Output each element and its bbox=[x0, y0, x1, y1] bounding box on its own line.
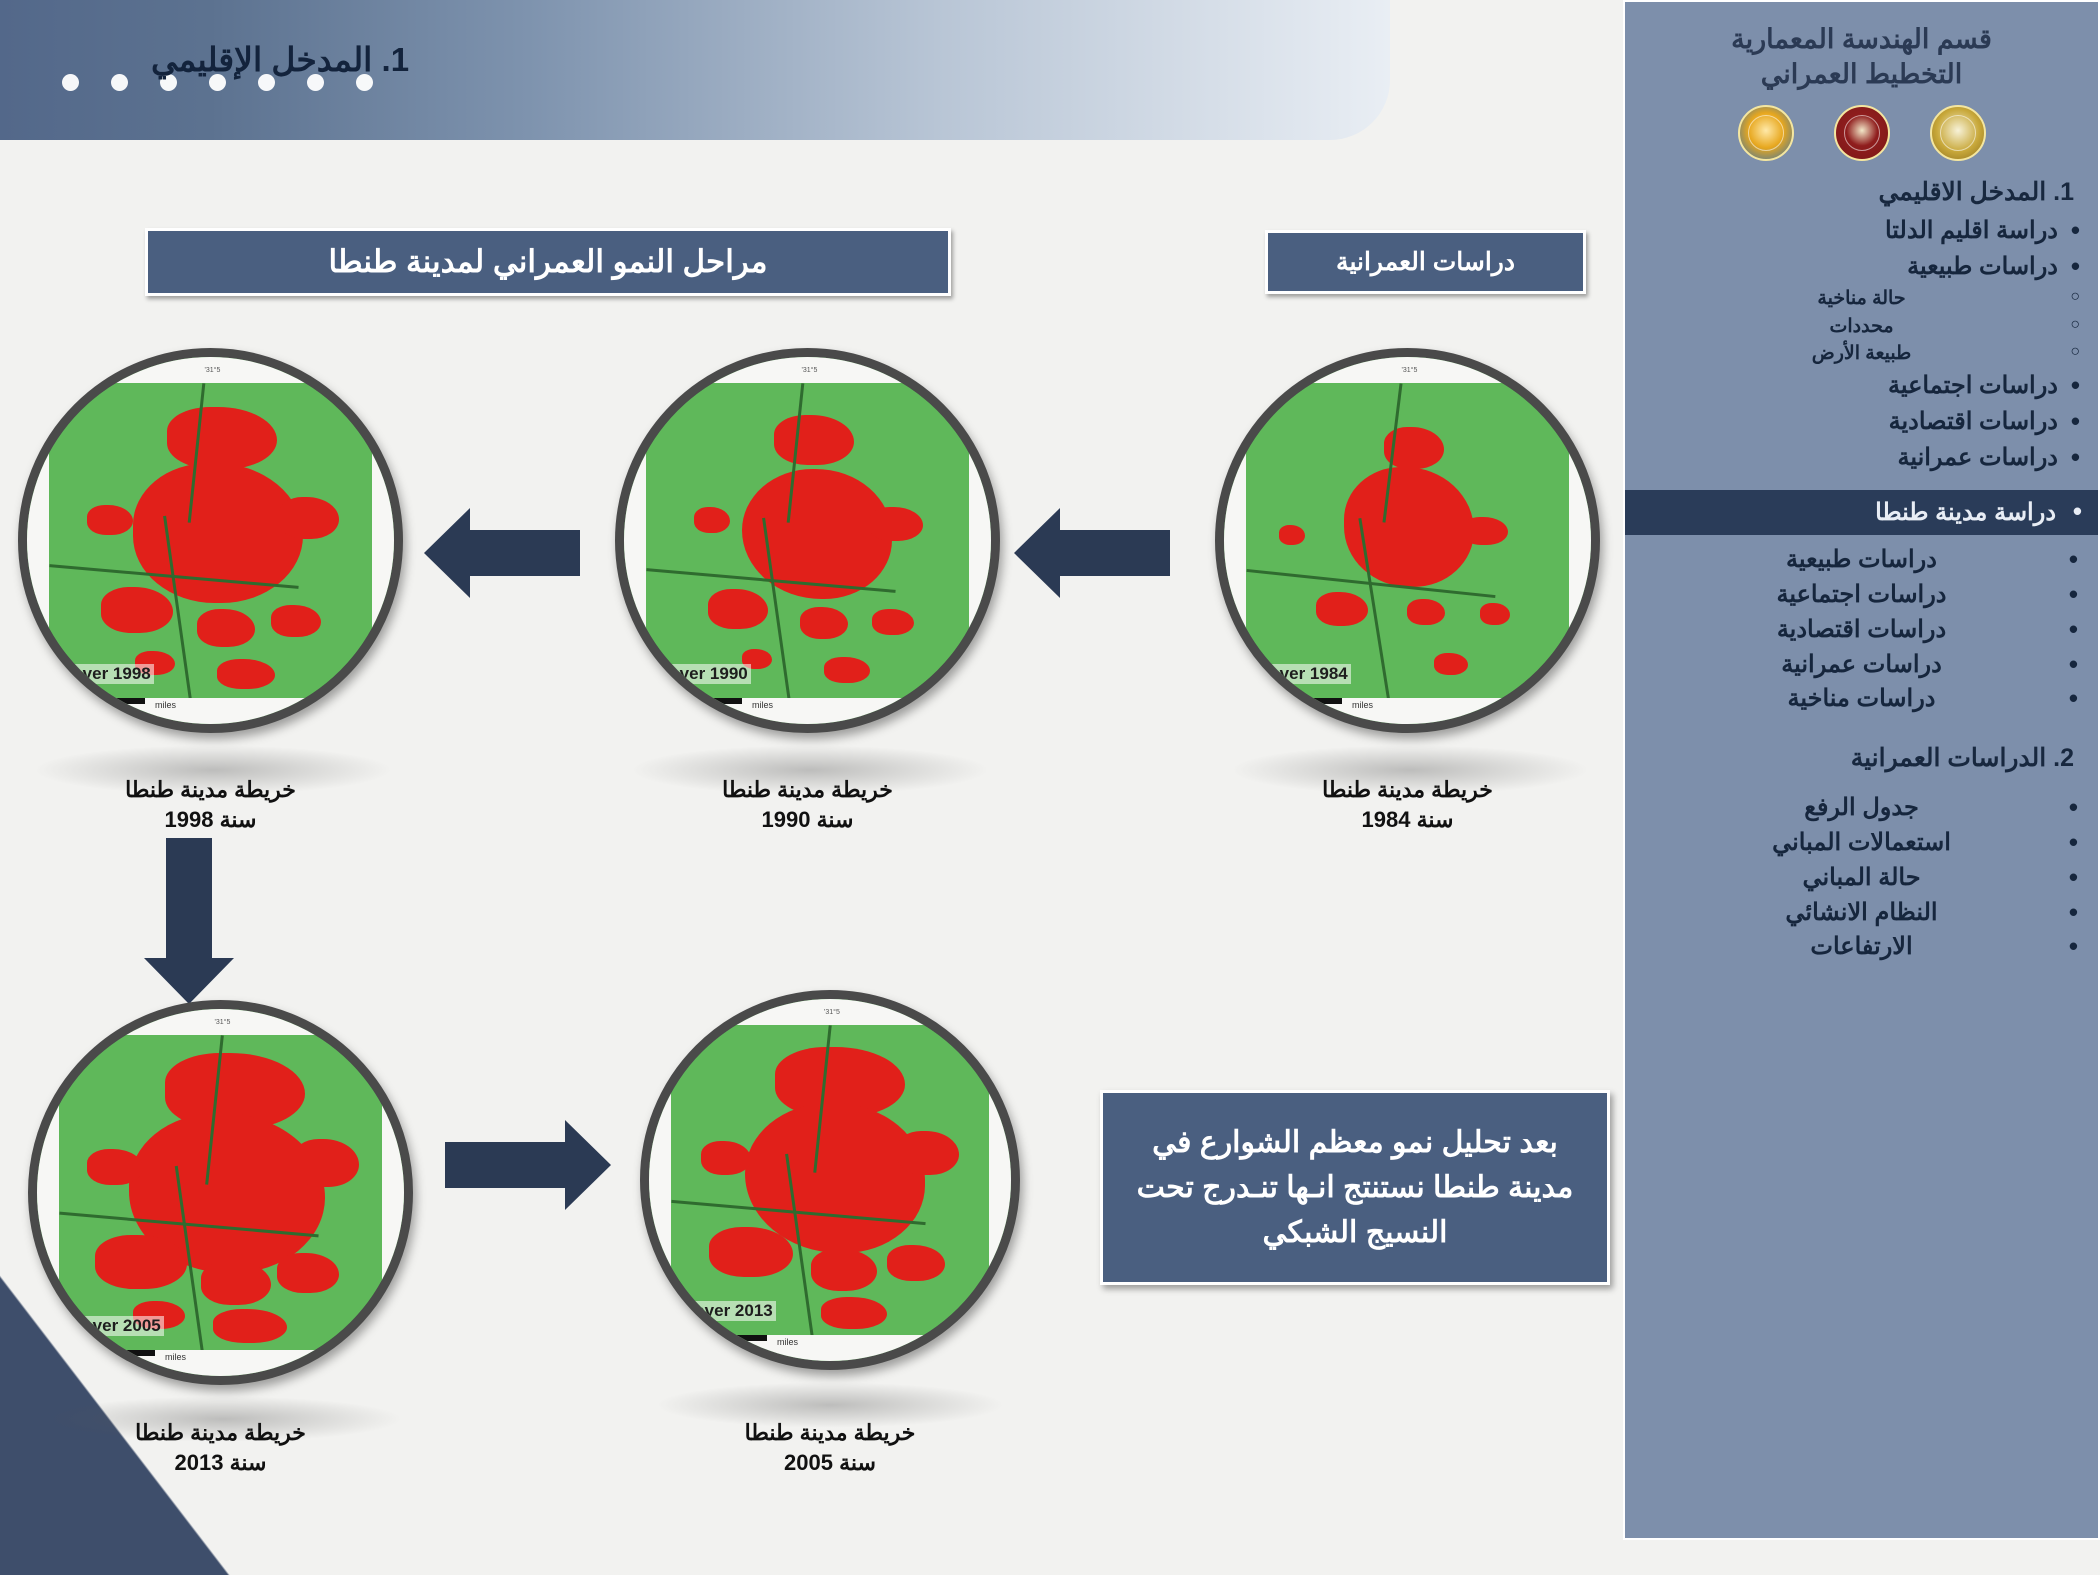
map-2005[interactable]: 31°0'31°5'31°10' Cover 2013 miles bbox=[640, 990, 1020, 1370]
sidebar-item-urban-studies[interactable]: دراسات عمرانية bbox=[1635, 440, 2088, 476]
urban-patch bbox=[887, 1245, 945, 1281]
sidebar-item-building-uses[interactable]: استعمالات المباني bbox=[1635, 826, 2088, 861]
map-scale-bar bbox=[658, 698, 742, 704]
sidebar: قسم الهندسة المعمارية التخطيط العمراني 1… bbox=[1623, 0, 2100, 1540]
caption-line1: خريطة مدينة طنطا bbox=[1215, 775, 1600, 805]
map-scale-bar bbox=[1258, 698, 1342, 704]
caption-line2: سنة 1990 bbox=[615, 805, 1000, 835]
sidebar-item-structural-system[interactable]: النظام الانشائي bbox=[1635, 896, 2088, 931]
map-margin-right bbox=[382, 1009, 404, 1376]
map-tick-row: 31°0'31°5'31°10' bbox=[1224, 357, 1591, 383]
urban-patch bbox=[279, 497, 339, 539]
caption-line1: خريطة مدينة طنطا bbox=[18, 775, 403, 805]
arrow-2013-to-2005 bbox=[445, 1142, 565, 1188]
sidebar-list-urban: جدول الرفع استعمالات المباني حالة المبان… bbox=[1635, 791, 2088, 965]
map-scale-text: miles bbox=[777, 1337, 798, 1347]
sidebar-header-line1: قسم الهندسة المعمارية bbox=[1635, 22, 2088, 57]
map-scale-text: miles bbox=[165, 1352, 186, 1362]
map-caption-2013: خريطة مدينة طنطا سنة 2013 bbox=[28, 1418, 413, 1477]
caption-line1: خريطة مدينة طنطا bbox=[615, 775, 1000, 805]
map-margin-left bbox=[649, 999, 671, 1361]
sidebar-subitem-tanta-natural[interactable]: دراسات طبيعية bbox=[1635, 543, 2088, 578]
urban-patch bbox=[95, 1235, 187, 1289]
map-scale-text: miles bbox=[752, 700, 773, 710]
urban-patch bbox=[201, 1261, 271, 1305]
sidebar-header-line2: التخطيط العمراني bbox=[1635, 57, 2088, 92]
map-margin-right bbox=[989, 999, 1011, 1361]
sidebar-sublist-tanta: دراسات طبيعية دراسات اجتماعية دراسات اقت… bbox=[1635, 543, 2088, 717]
map-margin-top: 31°0'31°5'31°10' bbox=[1224, 357, 1591, 383]
sidebar-list-regional-rest: دراسات اجتماعية دراسات اقتصادية دراسات ع… bbox=[1635, 368, 2088, 476]
map-scale-text: miles bbox=[1352, 700, 1373, 710]
arrow-1990-to-1998 bbox=[470, 530, 580, 576]
urban-patch bbox=[1434, 653, 1468, 675]
urban-patch bbox=[87, 505, 133, 535]
urban-patch bbox=[824, 657, 870, 683]
map-margin-top: 31°0'31°5'31°10' bbox=[27, 357, 394, 383]
caption-line2: سنة 2005 bbox=[640, 1448, 1020, 1478]
sidebar-list-regional: دراسة اقليم الدلتا دراسات طبيعية bbox=[1635, 213, 2088, 285]
map-margin-left bbox=[37, 1009, 59, 1376]
map-tick-row: 31°0'31°5'31°10' bbox=[624, 357, 991, 383]
urban-patch bbox=[774, 415, 854, 465]
map-1998[interactable]: 31°0'31°5'31°10' Cover 1998 miles bbox=[18, 348, 403, 733]
map-margin-left bbox=[27, 357, 49, 724]
sidebar-subitem-tanta-social[interactable]: دراسات اجتماعية bbox=[1635, 578, 2088, 613]
urban-patch bbox=[897, 1131, 959, 1175]
urban-patch bbox=[1462, 517, 1508, 545]
sidebar-subitem-land-nature[interactable]: طبيعة الأرض bbox=[1635, 340, 2088, 368]
sidebar-subitem-tanta-climate[interactable]: دراسات مناخية bbox=[1635, 682, 2088, 717]
urban-patch bbox=[1407, 599, 1445, 625]
sidebar-item-survey-table[interactable]: جدول الرفع bbox=[1635, 791, 2088, 826]
sidebar-subitem-tanta-urban[interactable]: دراسات عمرانية bbox=[1635, 648, 2088, 683]
urban-patch bbox=[87, 1149, 143, 1185]
sidebar-item-delta-study[interactable]: دراسة اقليم الدلتا bbox=[1635, 213, 2088, 249]
sidebar-item-tanta-city-study[interactable]: دراسة مدينة طنطا bbox=[1625, 490, 2098, 535]
map-scale-bar bbox=[683, 1335, 767, 1341]
map-circle-1998: 31°0'31°5'31°10' Cover 1998 miles bbox=[18, 348, 403, 733]
map-inset-label: Cover 2013 bbox=[679, 1301, 776, 1321]
caption-line2: سنة 2013 bbox=[28, 1448, 413, 1478]
urban-patch bbox=[811, 1249, 877, 1291]
map-scale-bar bbox=[61, 698, 145, 704]
urban-patch bbox=[1480, 603, 1510, 625]
map-circle-1984: 31°0'31°5'31°10' Cover 1984 miles bbox=[1215, 348, 1600, 733]
conclusion-box: بعد تحليل نمو معظم الشوارع في مدينة طنطا… bbox=[1100, 1090, 1610, 1285]
map-margin-top: 31°0'31°5'31°10' bbox=[649, 999, 1011, 1025]
map-scale-text: miles bbox=[155, 700, 176, 710]
urban-patch bbox=[701, 1141, 751, 1175]
urban-patch bbox=[694, 507, 730, 533]
university-seal-icon bbox=[1930, 105, 1986, 161]
heading-growth-stages: مراحل النمو العمراني لمدينة طنطا bbox=[145, 228, 951, 296]
urban-patch bbox=[869, 507, 923, 541]
map-1990[interactable]: 31°0'31°5'31°10' Cover 1990 miles bbox=[615, 348, 1000, 733]
urban-patch bbox=[167, 407, 277, 469]
urban-patch bbox=[293, 1139, 359, 1187]
sidebar-subitem-constraints[interactable]: محددات bbox=[1635, 313, 2088, 341]
map-margin-left bbox=[1224, 357, 1246, 724]
map-margin-top: 31°0'31°5'31°10' bbox=[37, 1009, 404, 1035]
sidebar-item-economic-studies[interactable]: دراسات اقتصادية bbox=[1635, 404, 2088, 440]
map-caption-1998: خريطة مدينة طنطا سنة 1998 bbox=[18, 775, 403, 834]
sidebar-item-social-studies[interactable]: دراسات اجتماعية bbox=[1635, 368, 2088, 404]
map-margin-top: 31°0'31°5'31°10' bbox=[624, 357, 991, 383]
heading-urban-studies: دراسات العمرانية bbox=[1265, 230, 1586, 294]
map-circle-2005: 31°0'31°5'31°10' Cover 2013 miles bbox=[640, 990, 1020, 1370]
map-margin-right bbox=[372, 357, 394, 724]
sidebar-sublist-natural: حالة مناخية محددات طبيعة الأرض bbox=[1635, 285, 2088, 368]
caption-line1: خريطة مدينة طنطا bbox=[28, 1418, 413, 1448]
sidebar-section-title-urban: 2. الدراسات العمرانية bbox=[1641, 743, 2074, 773]
caption-line2: سنة 1998 bbox=[18, 805, 403, 835]
slide-title-bar: 1. المدخل الإقليمي bbox=[0, 0, 1390, 140]
caption-line2: سنة 1984 bbox=[1215, 805, 1600, 835]
urban-patch bbox=[872, 609, 914, 635]
page-title: 1. المدخل الإقليمي bbox=[50, 40, 510, 79]
map-caption-1984: خريطة مدينة طنطا سنة 1984 bbox=[1215, 775, 1600, 834]
urban-patch bbox=[708, 589, 768, 629]
map-margin-right bbox=[1569, 357, 1591, 724]
logo-row bbox=[1635, 105, 2088, 161]
caption-line1: خريطة مدينة طنطا bbox=[640, 1418, 1020, 1448]
urban-patch bbox=[800, 607, 848, 639]
map-circle-2013: 31°0'31°5'31°10' Cover 2005 miles bbox=[28, 1000, 413, 1385]
map-margin-left bbox=[624, 357, 646, 724]
sidebar-section-title-regional: 1. المدخل الاقليمي bbox=[1641, 177, 2074, 207]
map-inset-label: Cover 2005 bbox=[67, 1316, 164, 1336]
map-caption-2005: خريطة مدينة طنطا سنة 2005 bbox=[640, 1418, 1020, 1477]
sidebar-item-heights[interactable]: الارتفاعات bbox=[1635, 930, 2088, 965]
map-inset-label: Cover 1998 bbox=[57, 664, 154, 684]
department-seal-icon bbox=[1738, 105, 1794, 161]
arrow-1998-to-2013 bbox=[166, 838, 212, 958]
map-margin-right bbox=[969, 357, 991, 724]
map-1984[interactable]: 31°0'31°5'31°10' Cover 1984 miles bbox=[1215, 348, 1600, 733]
arrow-1984-to-1990 bbox=[1060, 530, 1170, 576]
urban-patch bbox=[271, 605, 321, 637]
urban-patch bbox=[213, 1309, 287, 1343]
arrow-head-right bbox=[565, 1120, 611, 1210]
map-inset-label: Cover 1984 bbox=[1254, 664, 1351, 684]
map-inset-label: Cover 1990 bbox=[654, 664, 751, 684]
urban-patch bbox=[277, 1253, 339, 1293]
urban-patch bbox=[197, 609, 255, 647]
urban-patch bbox=[101, 587, 173, 633]
urban-patch bbox=[821, 1297, 887, 1329]
urban-patch bbox=[1279, 525, 1305, 545]
sidebar-header: قسم الهندسة المعمارية التخطيط العمراني bbox=[1635, 22, 2088, 91]
urban-patch bbox=[1316, 592, 1368, 626]
map-circle-1990: 31°0'31°5'31°10' Cover 1990 miles bbox=[615, 348, 1000, 733]
map-tick-row: 31°0'31°5'31°10' bbox=[649, 999, 1011, 1025]
urban-patch bbox=[709, 1227, 793, 1277]
map-2013[interactable]: 31°0'31°5'31°10' Cover 2005 miles bbox=[28, 1000, 413, 1385]
sidebar-subitem-tanta-economic[interactable]: دراسات اقتصادية bbox=[1635, 613, 2088, 648]
sidebar-item-building-condition[interactable]: حالة المباني bbox=[1635, 861, 2088, 896]
sidebar-subitem-climate[interactable]: حالة مناخية bbox=[1635, 285, 2088, 313]
map-scale-bar bbox=[71, 1350, 155, 1356]
map-caption-1990: خريطة مدينة طنطا سنة 1990 bbox=[615, 775, 1000, 834]
urban-core bbox=[133, 463, 303, 603]
map-tick-row: 31°0'31°5'31°10' bbox=[37, 1009, 404, 1035]
urban-patch bbox=[217, 659, 275, 689]
faculty-seal-icon bbox=[1834, 105, 1890, 161]
map-tick-row: 31°0'31°5'31°10' bbox=[27, 357, 394, 383]
sidebar-item-natural-studies[interactable]: دراسات طبيعية bbox=[1635, 249, 2088, 285]
